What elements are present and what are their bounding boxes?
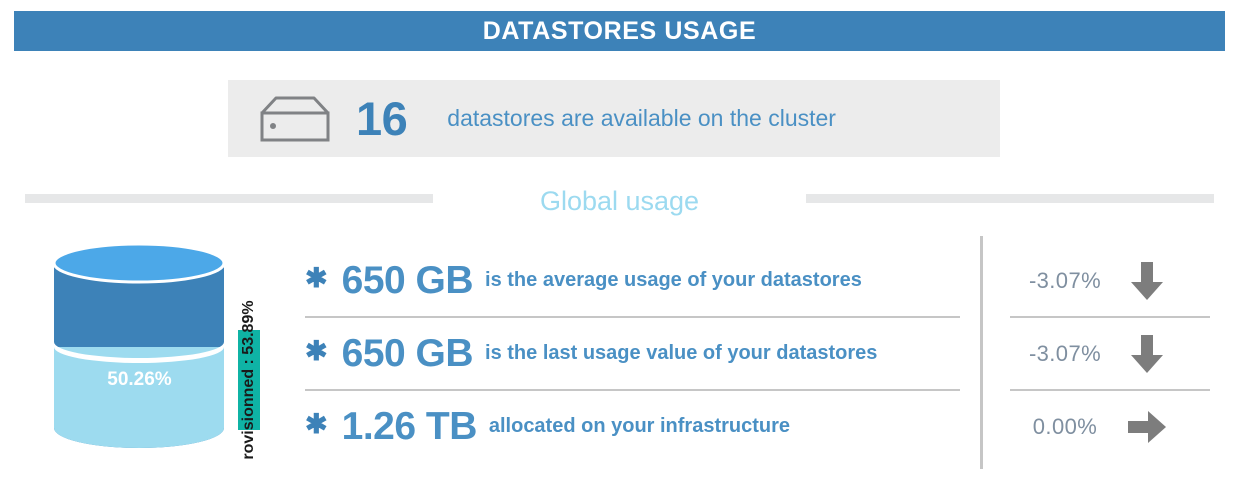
stat-description: allocated on your infrastructure: [489, 415, 790, 438]
section-title: Global usage: [433, 186, 806, 217]
list-item: ✱ 1.26 TB allocated on your infrastructu…: [305, 391, 960, 462]
list-item: 0.00%: [1010, 391, 1210, 462]
list-item: -3.07%: [1010, 245, 1210, 318]
usage-stats-list: ✱ 650 GB is the average usage of your da…: [305, 245, 960, 460]
section-header: Global usage: [0, 186, 1239, 222]
list-item: -3.07%: [1010, 318, 1210, 391]
section-rule-right: [806, 194, 1214, 203]
trend-value: 0.00%: [1010, 414, 1120, 440]
bullet-icon: ✱: [305, 411, 328, 438]
datastore-count-label: datastores are available on the cluster: [447, 105, 836, 132]
datastore-summary-banner: 16 datastores are available on the clust…: [228, 80, 1000, 157]
stat-value: 650 GB: [342, 332, 473, 376]
section-rule-left: [25, 194, 433, 203]
datastore-count: 16: [356, 95, 407, 142]
bullet-icon: ✱: [305, 265, 328, 292]
datastore-icon: [252, 93, 338, 145]
trend-column: -3.07% -3.07% 0.00%: [1010, 245, 1210, 460]
list-item: ✱ 650 GB is the average usage of your da…: [305, 245, 960, 318]
trend-value: -3.07%: [1010, 268, 1120, 294]
arrow-down-icon: [1120, 332, 1174, 376]
dashboard-panel: DATASTORES USAGE 16 datastores are avail…: [0, 0, 1239, 484]
provisioned-marker: rovisionned : 53.89%: [238, 330, 260, 430]
list-item: ✱ 650 GB is the last usage value of your…: [305, 318, 960, 391]
arrow-down-icon: [1120, 259, 1174, 303]
page-title: DATASTORES USAGE: [483, 17, 757, 46]
stat-value: 650 GB: [342, 259, 473, 303]
usage-cylinder-gauge: 50.26%: [52, 243, 227, 455]
stat-value: 1.26 TB: [342, 405, 477, 449]
arrow-right-icon: [1120, 405, 1174, 449]
stat-description: is the average usage of your datastores: [485, 269, 862, 292]
bullet-icon: ✱: [305, 338, 328, 365]
trend-value: -3.07%: [1010, 341, 1120, 367]
stat-description: is the last usage value of your datastor…: [485, 342, 877, 365]
column-divider: [980, 236, 983, 469]
page-header: DATASTORES USAGE: [14, 11, 1225, 51]
provisioned-label: rovisionned : 53.89%: [240, 300, 258, 459]
